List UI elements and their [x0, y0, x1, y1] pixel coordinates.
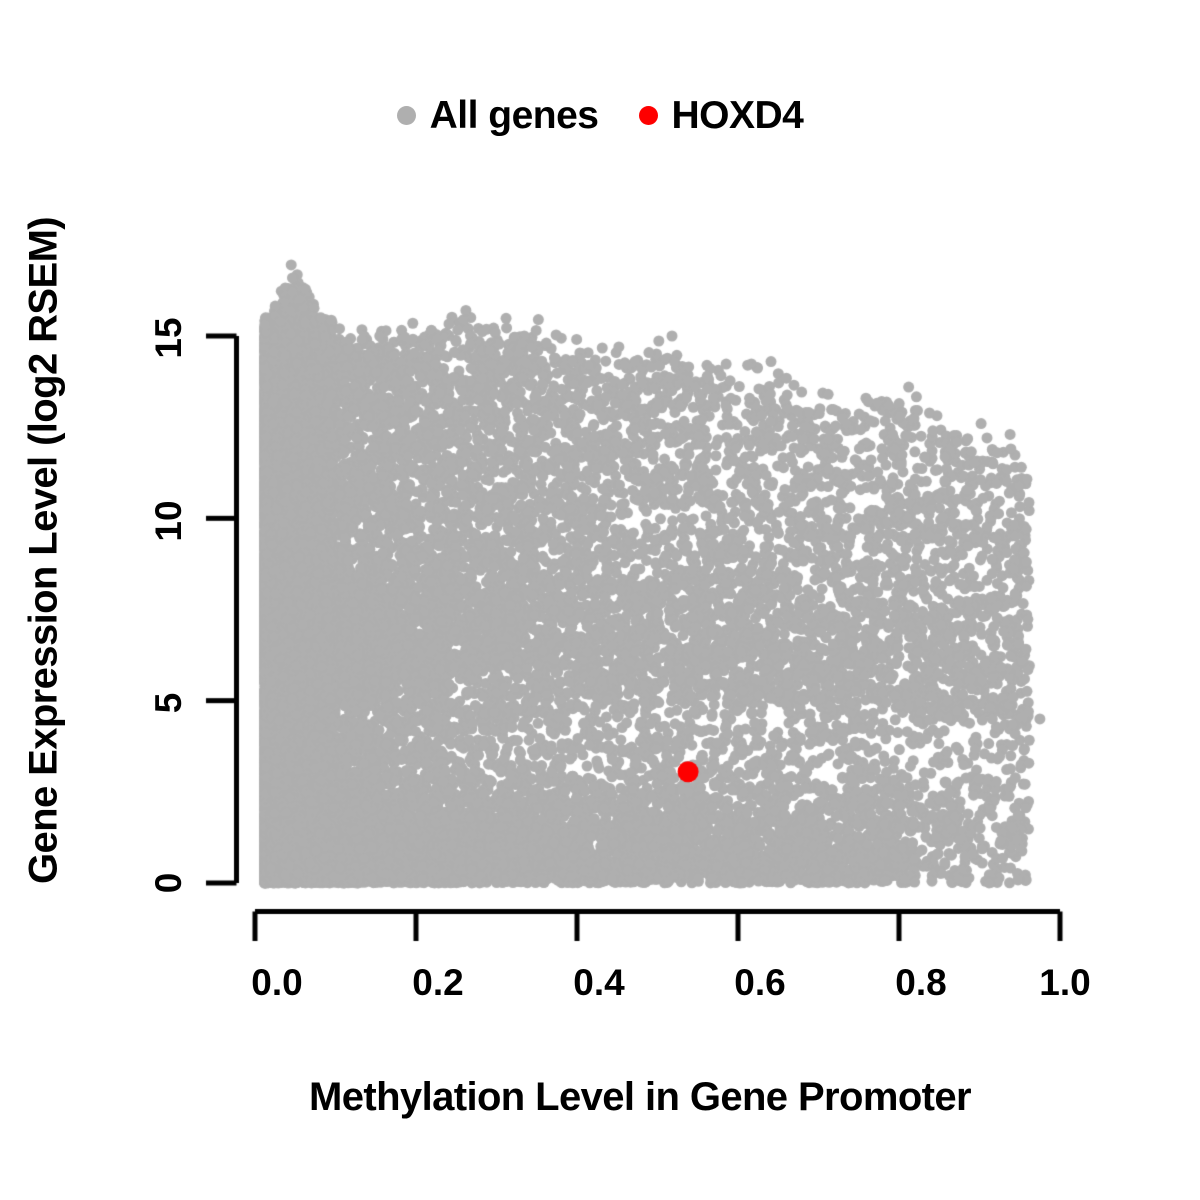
legend-item-hoxd4[interactable]: HOXD4: [639, 96, 804, 135]
scatter-plot-figure: All genes HOXD4 0 5 10 15 0.0 0.2 0.4 0.…: [0, 0, 1200, 1200]
x-tick-label-1: 0.2: [412, 962, 463, 1004]
x-tick-label-3: 0.6: [734, 962, 785, 1004]
y-tick-label-10: 10: [148, 491, 190, 551]
grey-dot-icon: [397, 106, 416, 125]
legend-label-hoxd4: HOXD4: [672, 96, 804, 135]
x-tick-label-4: 0.8: [895, 962, 946, 1004]
scatter-plot-canvas: [0, 0, 1200, 1200]
x-tick-label-2: 0.4: [573, 962, 624, 1004]
plot-legend: All genes HOXD4: [0, 88, 1200, 142]
x-axis-title: Methylation Level in Gene Promoter: [130, 1075, 1150, 1120]
x-tick-label-0: 0.0: [251, 962, 302, 1004]
y-tick-label-5: 5: [148, 673, 190, 733]
red-dot-icon: [639, 106, 658, 125]
y-tick-label-0: 0: [148, 853, 190, 913]
legend-label-all-genes: All genes: [430, 96, 599, 135]
y-tick-label-15: 15: [148, 308, 190, 368]
y-axis-title: Gene Expression Level (log2 RSEM): [22, 121, 67, 981]
legend-item-all-genes[interactable]: All genes: [397, 96, 599, 135]
x-tick-label-5: 1.0: [1039, 962, 1090, 1004]
